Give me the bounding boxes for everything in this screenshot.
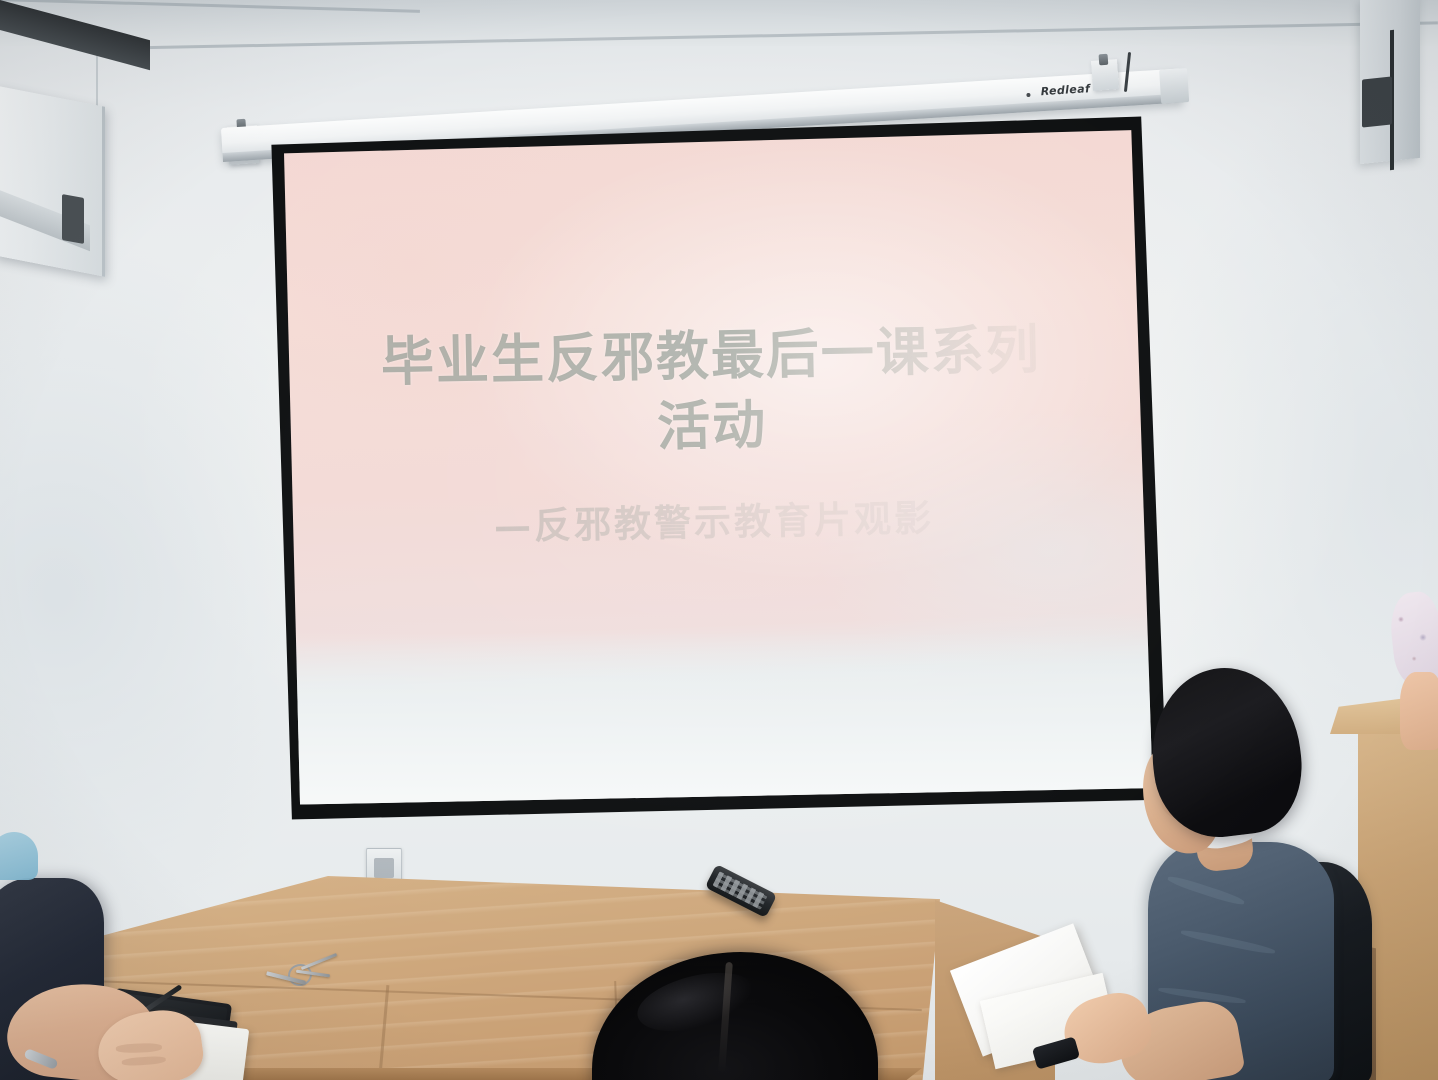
- air-conditioner-icon: [0, 85, 105, 277]
- brand-dot-icon: [1026, 93, 1030, 97]
- keyring-with-keys[interactable]: [266, 952, 338, 992]
- slide-subtitle: —反邪教警示教育片观影: [393, 486, 1035, 552]
- key-blade-icon: [301, 953, 337, 970]
- shirt-fold: [1167, 874, 1246, 907]
- housing-end-cap: [1159, 68, 1189, 104]
- screen-brand-label: Redleaf: [1040, 82, 1090, 98]
- wall-fixture-mount-icon: [1362, 76, 1392, 127]
- outlet-socket-icon: [374, 858, 394, 878]
- projector-screen-surface[interactable]: 毕业生反邪教最后一课系列活动 —反邪教警示教育片观影: [268, 126, 1158, 810]
- screen-bracket-right: [1091, 59, 1119, 91]
- finger-line: [116, 1043, 162, 1054]
- screen-unlit-area: [268, 632, 1158, 810]
- air-conditioner-bracket: [62, 194, 84, 244]
- bracket-screw-right: [1099, 54, 1109, 66]
- finger-line: [122, 1055, 166, 1066]
- person-far-right-arm: [1400, 672, 1438, 750]
- shirt-fold: [1180, 928, 1276, 956]
- photo-scene: Redleaf 毕业生反邪教最后一课系列活动 —反邪教警示教育片观影: [0, 0, 1438, 1080]
- slide-title: 毕业生反邪教最后一课系列活动: [363, 315, 1060, 468]
